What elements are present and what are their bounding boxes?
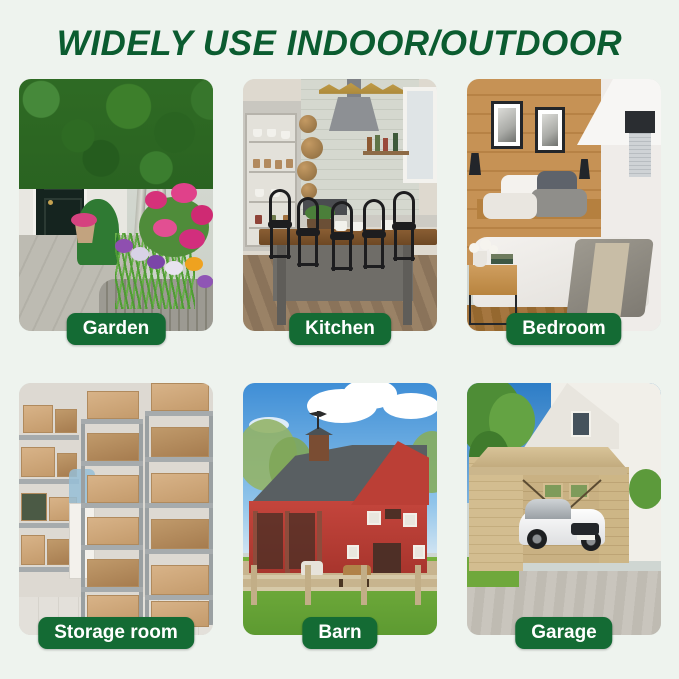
tile-badge-bedroom: Bedroom xyxy=(506,313,621,345)
use-case-tile-kitchen[interactable]: Kitchen xyxy=(243,79,437,331)
tile-badge-storage-room: Storage room xyxy=(38,617,194,649)
use-case-tile-barn[interactable]: Barn xyxy=(243,383,437,635)
promo-graphic: WIDELY USE INDOOR/OUTDOOR xyxy=(0,0,679,679)
storage-room-photo xyxy=(19,383,213,635)
storage-room-scene xyxy=(19,383,213,635)
bedroom-scene xyxy=(467,79,661,331)
barn-scene xyxy=(243,383,437,635)
tile-badge-garden: Garden xyxy=(67,313,166,345)
use-case-tile-garage[interactable]: Garage xyxy=(467,383,661,635)
garage-scene xyxy=(467,383,661,635)
kitchen-scene xyxy=(243,79,437,331)
use-case-grid: Garden xyxy=(19,79,661,645)
tile-badge-kitchen: Kitchen xyxy=(289,313,391,345)
garden-photo xyxy=(19,79,213,331)
page-title: WIDELY USE INDOOR/OUTDOOR xyxy=(0,24,679,64)
use-case-tile-garden[interactable]: Garden xyxy=(19,79,213,331)
tile-badge-barn: Barn xyxy=(302,617,377,649)
kitchen-photo xyxy=(243,79,437,331)
barn-photo xyxy=(243,383,437,635)
use-case-tile-bedroom[interactable]: Bedroom xyxy=(467,79,661,331)
use-case-tile-storage-room[interactable]: Storage room xyxy=(19,383,213,635)
garden-scene xyxy=(19,79,213,331)
bedroom-photo xyxy=(467,79,661,331)
garage-photo xyxy=(467,383,661,635)
tile-badge-garage: Garage xyxy=(515,617,612,649)
